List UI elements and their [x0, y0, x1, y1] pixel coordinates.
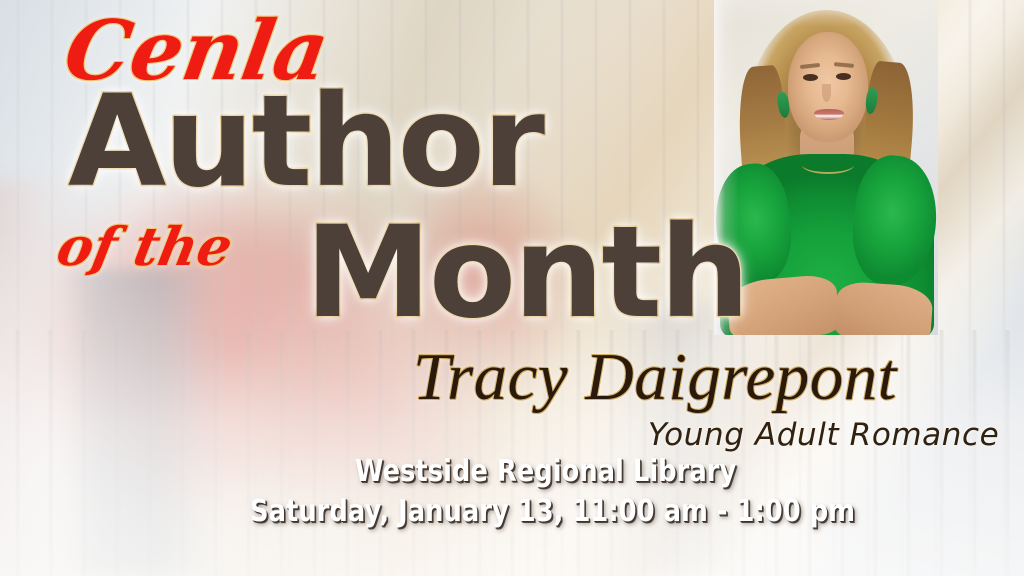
author-name: Tracy Daigrepont: [413, 344, 897, 411]
event-datetime: Saturday, January 13, 11:00 am - 1:00 pm: [250, 497, 855, 527]
event-venue: Westside Regional Library: [355, 457, 736, 487]
poster-text-layer: Cenla Author of the Month Tracy Daigrepo…: [0, 0, 1024, 576]
title-connector-of-the: of the: [53, 221, 237, 274]
title-word-author: Author: [68, 78, 542, 205]
author-genre: Young Adult Romance: [648, 420, 999, 451]
title-word-month: Month: [305, 209, 747, 336]
author-of-the-month-poster: Cenla Author of the Month Tracy Daigrepo…: [0, 0, 1024, 576]
